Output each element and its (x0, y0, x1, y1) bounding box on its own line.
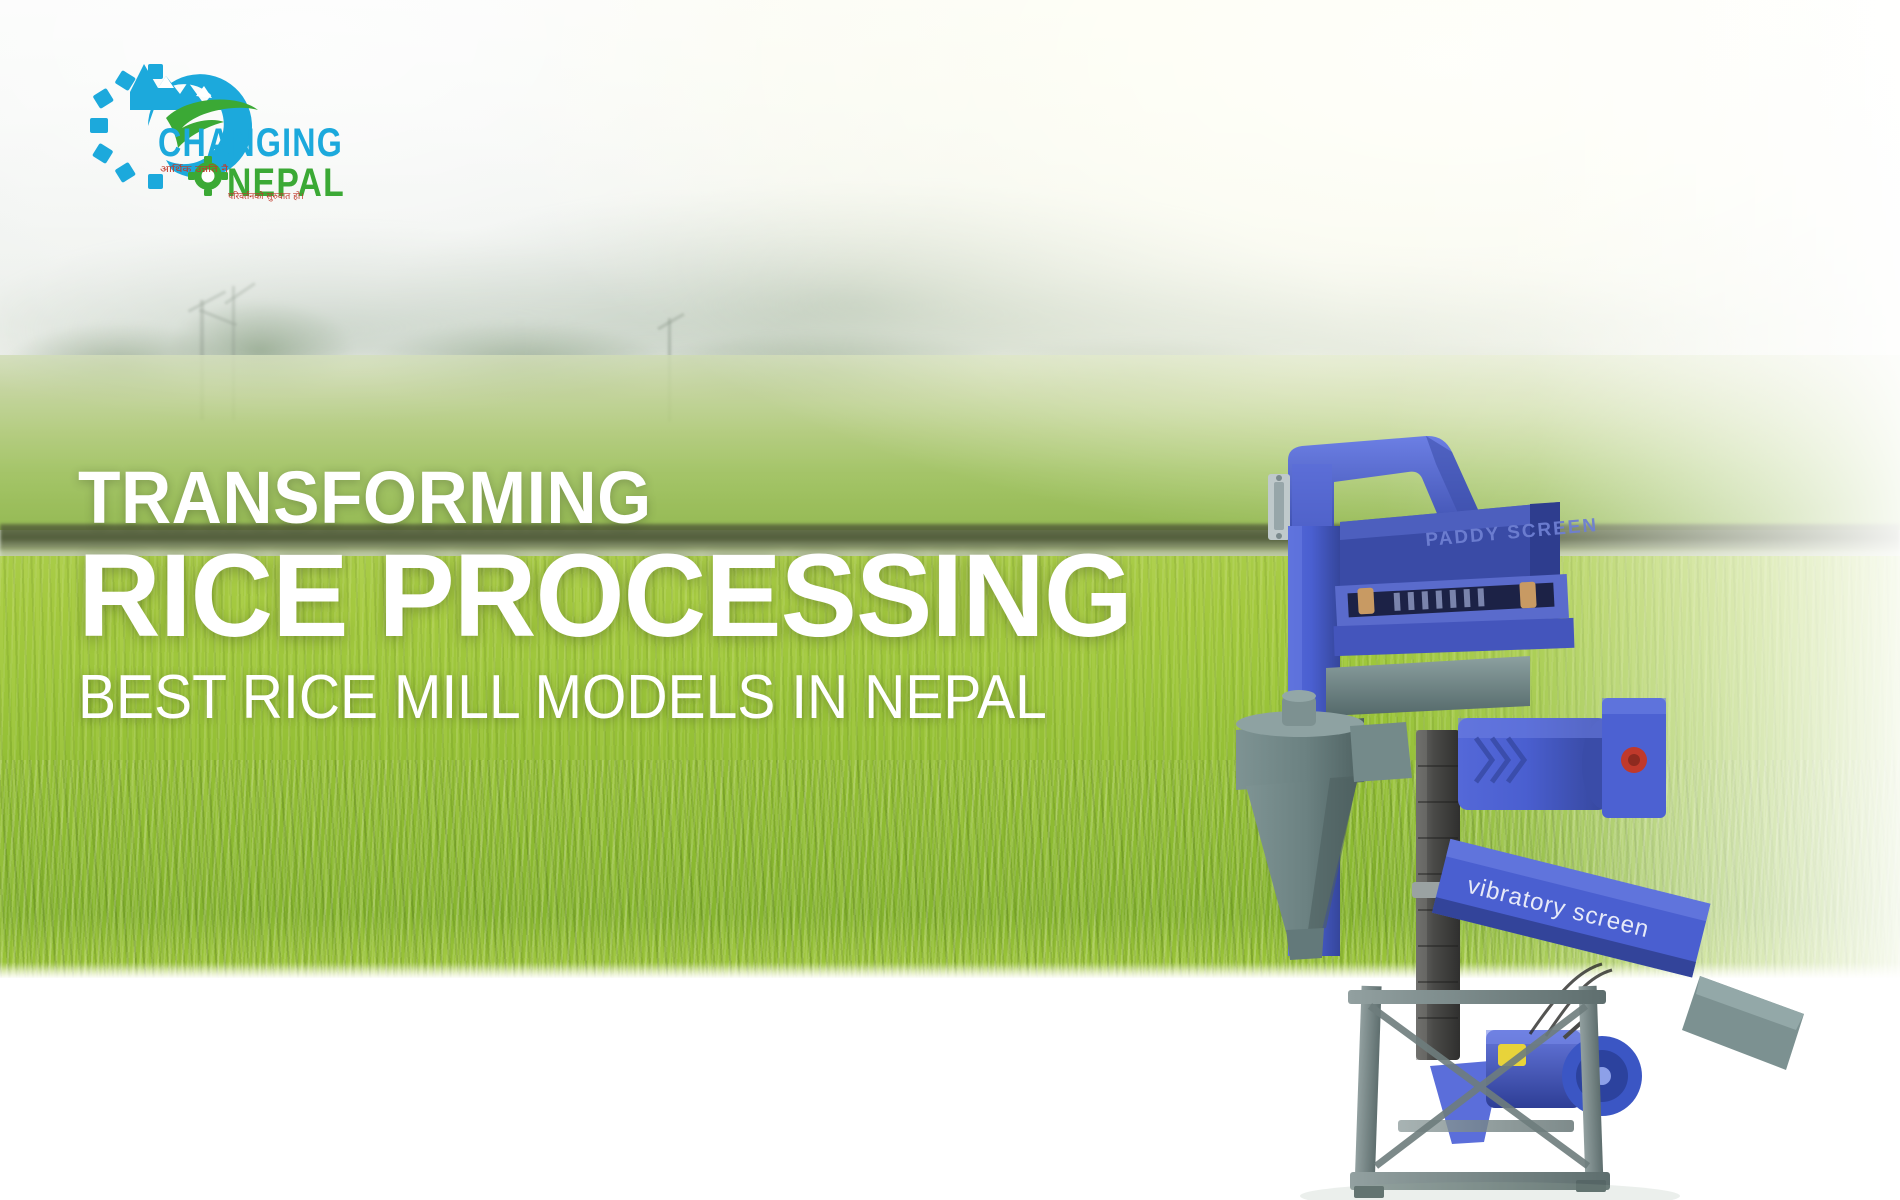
headline-kicker: TRANSFORMING (78, 462, 1093, 533)
logo-tagline-top: आर्थिक उन्नति नै (160, 163, 229, 175)
logo-word-changing: CHANGING (158, 121, 343, 165)
machine-outlet-tray (1682, 976, 1804, 1070)
page-title: RICE PROCESSING (78, 537, 1126, 655)
machine-latch-plate (1268, 474, 1290, 540)
headline-subtitle: BEST RICE MILL MODELS IN NEPAL (78, 665, 1072, 730)
logo-tagline-bottom: परिवर्तनको सुरुवात हो। (228, 189, 304, 202)
machine-cyclone-duct (1350, 722, 1412, 782)
machine-cyclone-separator (1236, 690, 1364, 960)
machine-vibratory-chute: vibratory screen (1432, 839, 1710, 978)
headline-block: TRANSFORMING RICE PROCESSING BEST RICE M… (78, 462, 1158, 730)
rice-mill-machine-photo: PADDY SCREEN (1230, 430, 1830, 1200)
machine-control-box (1602, 698, 1666, 818)
brand-logo[interactable]: CHANGING आर्थिक उन्नति नै NEPAL परिवर्तन… (62, 48, 362, 198)
banner-canvas: CHANGING आर्थिक उन्नति नै NEPAL परिवर्तन… (0, 0, 1900, 1200)
machine-cross-beam (1326, 656, 1530, 716)
machine-electric-motor (1486, 1022, 1642, 1116)
